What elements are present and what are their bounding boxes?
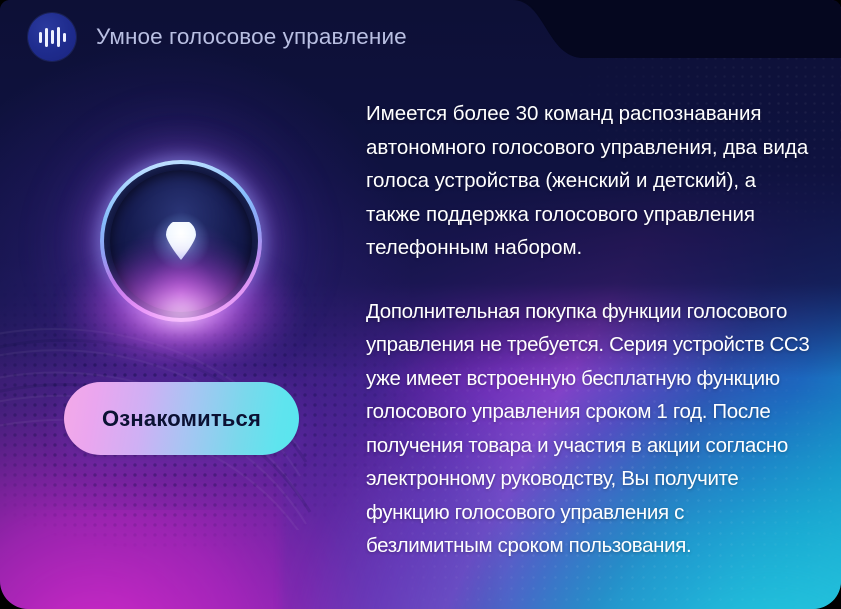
voice-control-promo-card: Умное голосовое управление: [0, 0, 841, 609]
orb-bottom-bloom: [66, 252, 296, 372]
voice-orb-panel: [0, 74, 360, 609]
voice-assistant-orb[interactable]: [100, 160, 262, 322]
page-title: Умное голосовое управление: [96, 24, 407, 50]
paragraph-1: Имеется более 30 команд распознавания ав…: [366, 97, 814, 265]
paragraph-2: Дополнительная покупка функции голосовог…: [366, 295, 814, 563]
description-text: Имеется более 30 команд распознавания ав…: [366, 97, 814, 563]
learn-more-button[interactable]: Ознакомиться: [64, 382, 299, 455]
voice-waveform-icon: [28, 13, 76, 61]
header: Умное голосовое управление: [28, 12, 407, 62]
